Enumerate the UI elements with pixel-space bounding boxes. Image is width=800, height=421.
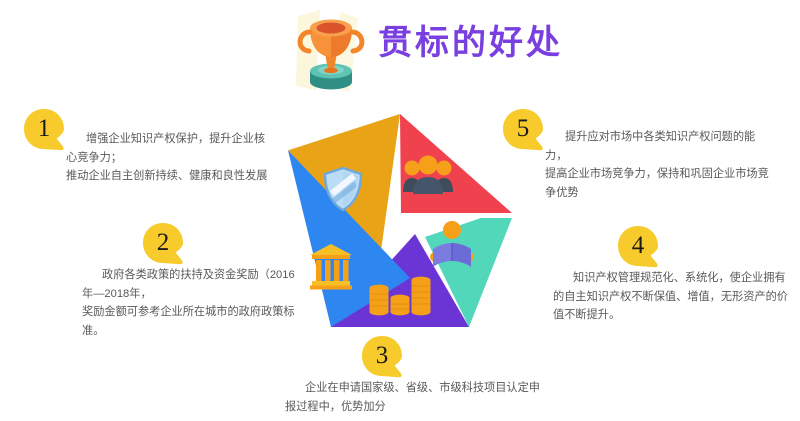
benefit-text-4: 知识产权管理规范化、系统化，使企业拥有的自主知识产权不断保值、增值，无形资产的价… bbox=[553, 269, 795, 325]
page-title: 贯标的好处 bbox=[378, 20, 563, 66]
badge-3: 3 bbox=[361, 335, 407, 381]
benefit-text-5: 提升应对市场中各类知识产权问题的能力， 提高企业市场竞争力，保持和巩固企业市场竞… bbox=[545, 128, 777, 202]
infographic-canvas: 贯标的好处 bbox=[0, 0, 800, 421]
badge-4: 4 bbox=[617, 225, 663, 271]
badge-number-4: 4 bbox=[617, 225, 659, 267]
badge-1: 1 bbox=[23, 108, 69, 154]
header: 贯标的好处 bbox=[290, 4, 620, 96]
badge-5: 5 bbox=[502, 108, 548, 154]
badge-number-1: 1 bbox=[23, 108, 65, 150]
badge-number-2: 2 bbox=[142, 222, 184, 264]
benefit-text-3: 企业在申请国家级、省级、市级科技项目认定申报过程中，优势加分 bbox=[285, 379, 540, 416]
badge-2: 2 bbox=[142, 222, 188, 268]
trophy-icon bbox=[290, 6, 372, 94]
badge-number-5: 5 bbox=[502, 108, 544, 150]
benefit-text-2: 政府各类政策的扶持及资金奖励（2016年—2018年， 奖励金额可参考企业所在城… bbox=[82, 266, 302, 340]
benefit-text-1: 增强企业知识产权保护，提升企业核心竞争力； 推动企业自主创新持续、健康和良性发展 bbox=[66, 130, 271, 186]
badge-number-3: 3 bbox=[361, 335, 403, 377]
